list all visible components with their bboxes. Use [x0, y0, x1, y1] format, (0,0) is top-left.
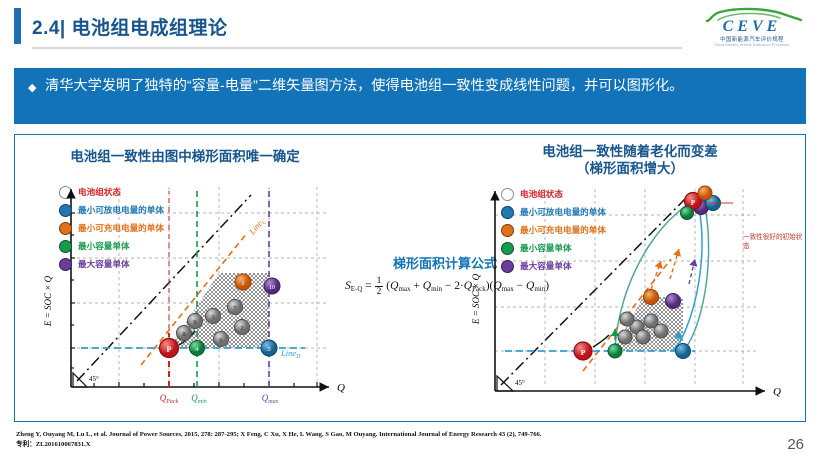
legend-label: 最小可充电电量的单体 [78, 222, 164, 234]
angle-annotation: 45° [89, 375, 99, 383]
right-panel-title: 电池组一致性随着老化而变差 （梯形面积增大） [470, 143, 790, 177]
svg-text:8: 8 [182, 331, 185, 338]
legend-label: 最小可放电电量的单体 [520, 206, 606, 218]
min-capacity-marker-icon [59, 240, 72, 253]
right-legend: 电池组状态 最小可放电电量的单体 最小可充电电量的单体 最小容量单体 最大容量单… [501, 185, 606, 275]
line-c-label: LineC [246, 214, 269, 238]
min-dischargeable-marker-icon [501, 206, 514, 219]
xtick-qmin: Qmin [191, 393, 207, 405]
angle-annotation: 45° [515, 379, 525, 387]
legend-item: 最小可充电电量的单体 [501, 221, 606, 239]
x-axis-label: Q [773, 386, 781, 398]
min-chargeable-marker-icon [501, 224, 514, 237]
min-chargeable-marker-icon [59, 222, 72, 235]
legend-item: 最大容量单体 [501, 257, 606, 275]
right-panel-title-line1: 电池组一致性随着老化而变差 [470, 143, 790, 160]
y-axis-label: E = SOC × Q [43, 275, 53, 327]
citation-line-1: Zheng Y, Ouyang M, Lu L, et al. Journal … [16, 430, 756, 440]
key-point-callout: ◆ 清华大学发明了独特的“容量-电量”二维矢量图方法，使得电池组一致性变成线性问… [14, 68, 806, 124]
max-capacity-marker-icon [501, 260, 514, 273]
legend-label: 最小可放电电量的单体 [78, 204, 164, 216]
right-panel-title-line2: （梯形面积增大） [470, 160, 790, 177]
legend-item: 最小容量单体 [59, 237, 164, 255]
legend-item: 最小可放电电量的单体 [501, 203, 606, 221]
line-d-label: LineD [280, 348, 301, 360]
svg-text:P: P [581, 348, 586, 357]
logo-chinese-name: 中国新能源汽车评价规程 [698, 35, 806, 43]
p-connector-arc [593, 335, 609, 347]
citation-block: Zheng Y, Ouyang M, Lu L, et al. Journal … [16, 430, 756, 450]
diamond-bullet-icon: ◆ [28, 81, 36, 94]
formula-one-half: 12 [375, 276, 384, 297]
callout-text: 清华大学发明了独特的“容量-电量”二维矢量图方法，使得电池组一致性变成线性问题，… [45, 76, 797, 97]
svg-text:1: 1 [241, 280, 244, 287]
x-axis-label: Q [337, 382, 345, 394]
min-dischargeable-marker-icon [59, 204, 72, 217]
legend-item: 电池组状态 [501, 185, 606, 203]
svg-text:10: 10 [269, 285, 275, 291]
legend-label: 最小可充电电量的单体 [520, 224, 606, 236]
xtick-qmax: Qmax [262, 393, 279, 405]
xtick-qpack: QPack [160, 393, 179, 405]
svg-text:P: P [167, 345, 172, 354]
pack-state-marker-icon [501, 188, 514, 201]
aging-annotation-text: 一致性很好的初始状态 [743, 233, 805, 251]
title-accent-bar [14, 8, 21, 44]
svg-text:3: 3 [211, 314, 214, 321]
left-legend: 电池组状态 最小可放电电量的单体 最小可充电电量的单体 最小容量单体 最大容量单… [59, 183, 164, 273]
legend-label: 电池组状态 [520, 188, 563, 200]
svg-text:9: 9 [193, 319, 196, 326]
y-axis-label: E = SOC × Q [471, 273, 481, 325]
content-frame: 电池组一致性由图中梯形面积唯一确定 电池组一致性随着老化而变差 （梯形面积增大） [14, 134, 806, 422]
page-number: 26 [787, 436, 804, 453]
legend-label: 电池组状态 [78, 186, 121, 198]
aging-arrow-orange-2 [670, 249, 679, 279]
min-capacity-marker-icon [501, 242, 514, 255]
legend-item: 最小容量单体 [501, 239, 606, 257]
logo-wordmark: CEVE [702, 18, 802, 36]
slide-header: 2.4| 电池组电成组理论 CEVE 中国新能源汽车评价规程 China Ele… [0, 0, 820, 52]
legend-label: 最大容量单体 [520, 260, 572, 272]
max-capacity-marker-icon [59, 258, 72, 271]
formula-lhs: SE-Q [345, 280, 362, 292]
legend-label: 最小容量单体 [520, 242, 572, 254]
header-divider [32, 47, 682, 49]
svg-text:2: 2 [240, 325, 243, 332]
aging-arrow-orange-1 [651, 261, 661, 289]
legend-item: 最小可放电电量的单体 [59, 201, 164, 219]
legend-label: 最小容量单体 [78, 240, 130, 252]
ceve-logo: CEVE 中国新能源汽车评价规程 China Electric Vehicle … [698, 6, 806, 48]
page-title: 2.4| 电池组电成组理论 [32, 13, 228, 40]
aging-arrow-purple [689, 259, 695, 284]
svg-text:P: P [691, 199, 696, 207]
legend-item: 最大容量单体 [59, 255, 164, 273]
aging-envelope-right [683, 207, 709, 351]
citation-line-2: 专利：ZL201610067831.X [16, 440, 756, 450]
left-panel-title: 电池组一致性由图中梯形面积唯一确定 [35, 148, 335, 165]
svg-text:5: 5 [267, 346, 270, 353]
legend-item: 最小可充电电量的单体 [59, 219, 164, 237]
logo-english-name: China Electric Vehicle Evaluation Proced… [698, 43, 806, 47]
pack-state-marker-icon [59, 186, 72, 199]
legend-item: 电池组状态 [59, 183, 164, 201]
legend-label: 最大容量单体 [78, 258, 130, 270]
